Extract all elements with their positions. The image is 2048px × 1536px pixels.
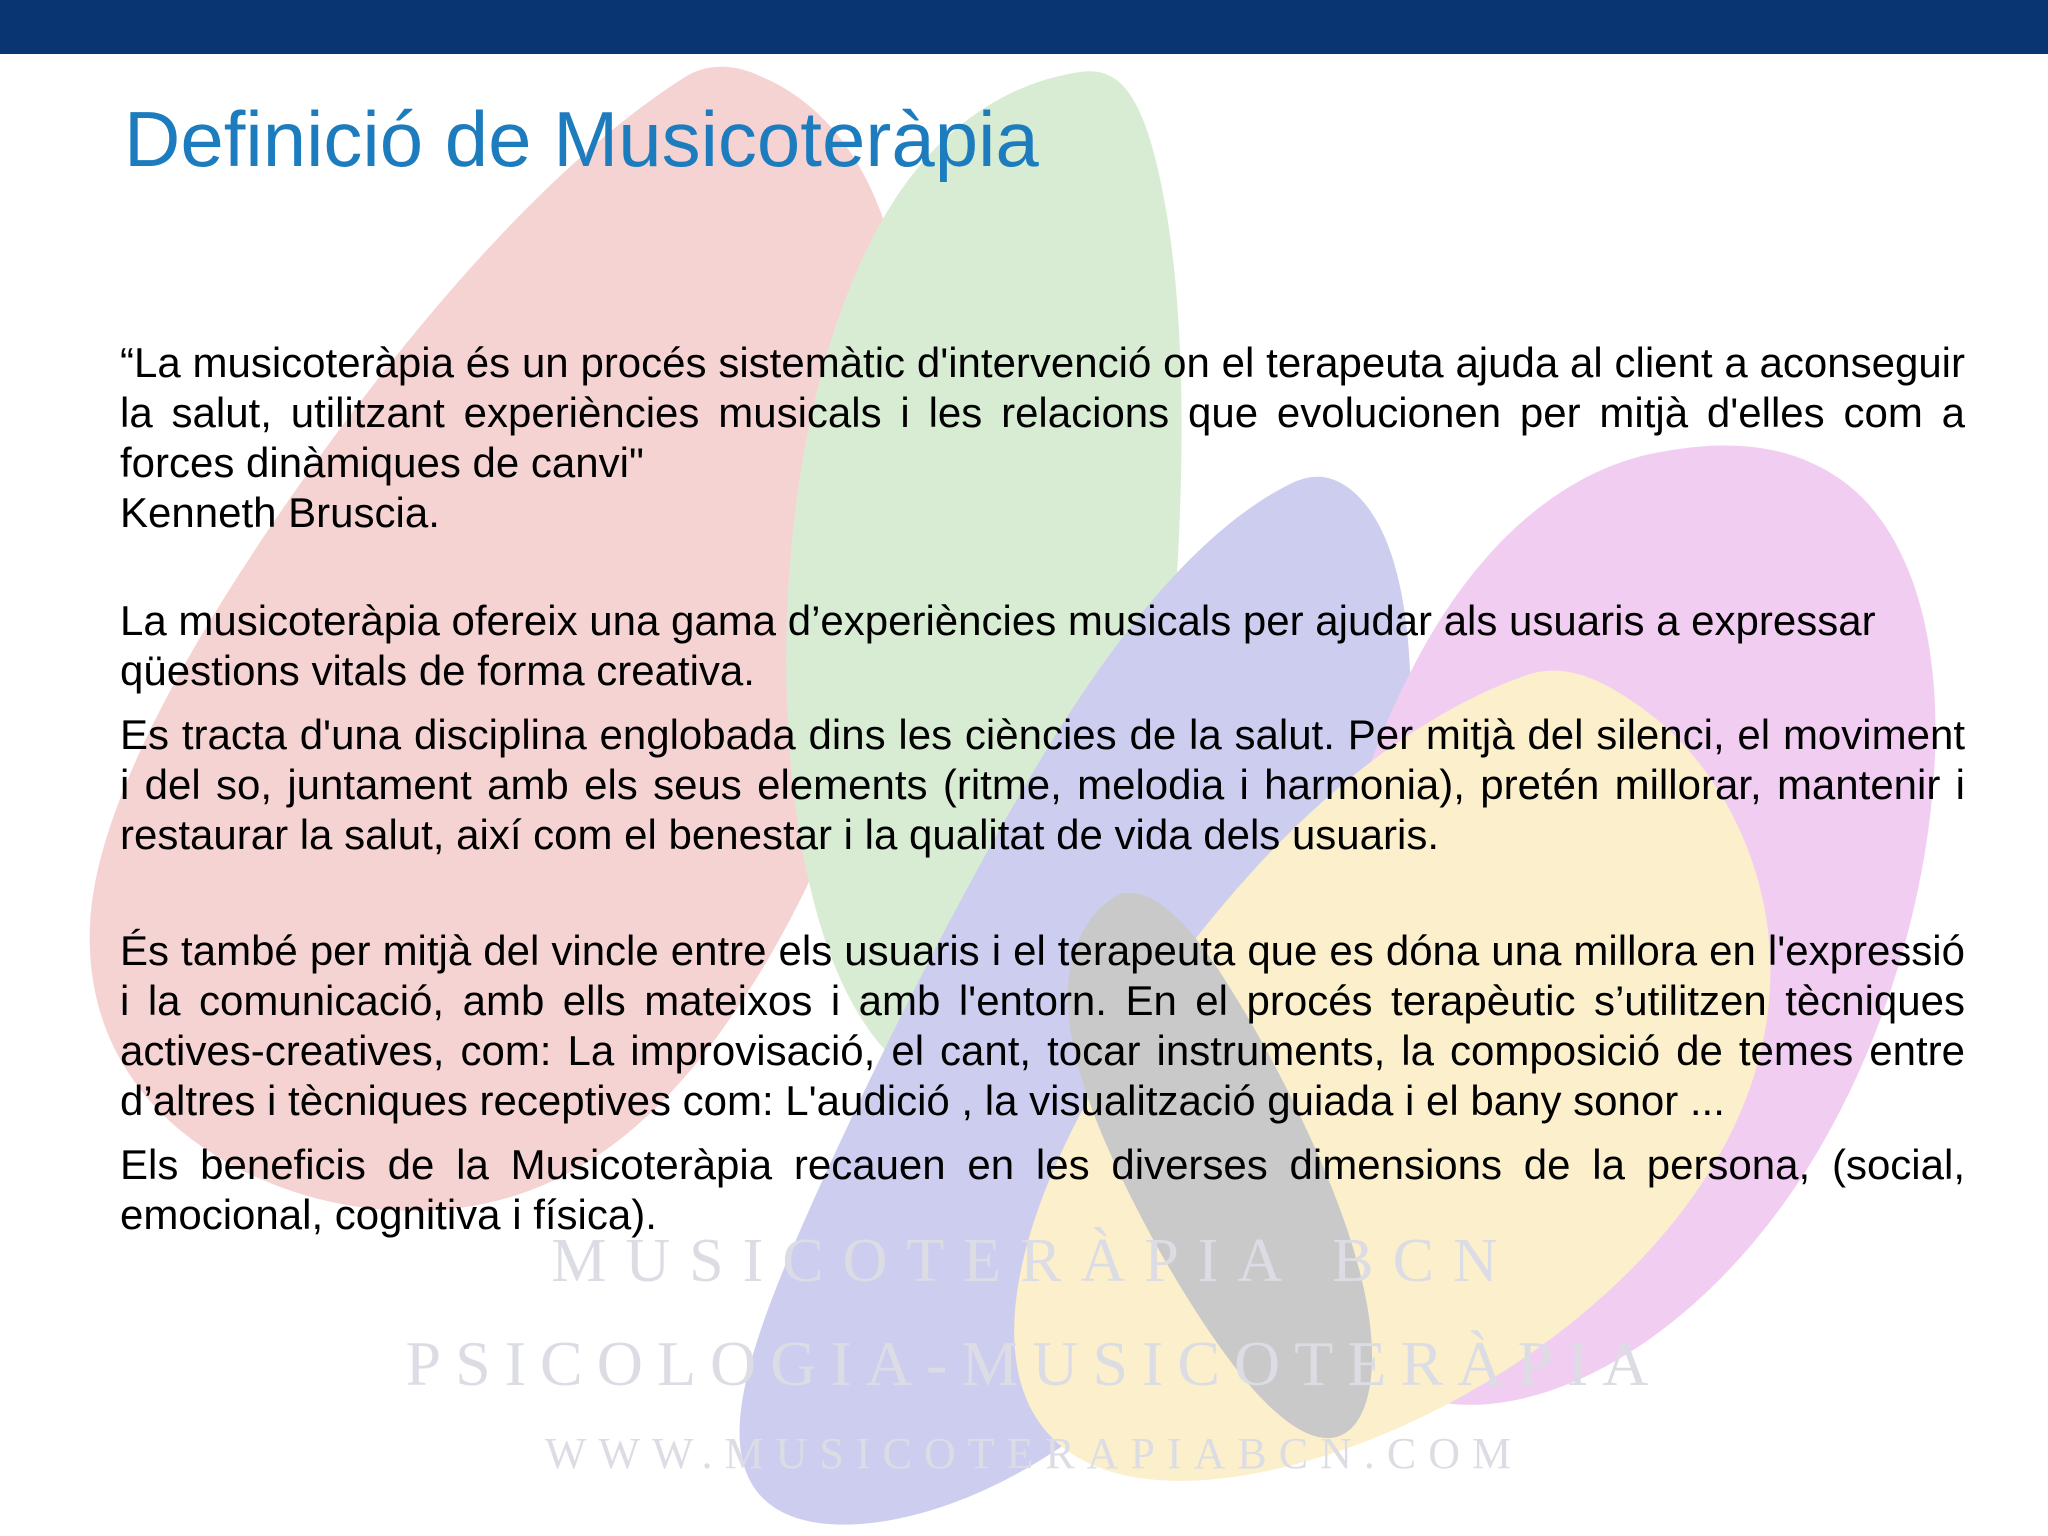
- paragraph-3: Es tracta d'una disciplina englobada din…: [120, 710, 1965, 860]
- attribution-line: Kenneth Bruscia.: [120, 488, 1965, 538]
- slide-content: Definició de Musicoteràpia “La musicoter…: [0, 0, 2048, 1536]
- spacer: [120, 1126, 1965, 1140]
- quote-paragraph: “La musicoteràpia és un procés sistemàti…: [120, 338, 1965, 488]
- header-bar: [0, 0, 2048, 54]
- paragraph-5: Els beneficis de la Musicoteràpia recaue…: [120, 1140, 1965, 1240]
- page-title: Definició de Musicoteràpia: [124, 100, 1039, 178]
- paragraph-4: És també per mitjà del vincle entre els …: [120, 926, 1965, 1126]
- body-text-block: “La musicoteràpia és un procés sistemàti…: [120, 338, 1965, 1240]
- spacer: [120, 696, 1965, 710]
- paragraph-2: La musicoteràpia ofereix una gama d’expe…: [120, 596, 1965, 696]
- spacer: [120, 860, 1965, 926]
- spacer: [120, 538, 1965, 596]
